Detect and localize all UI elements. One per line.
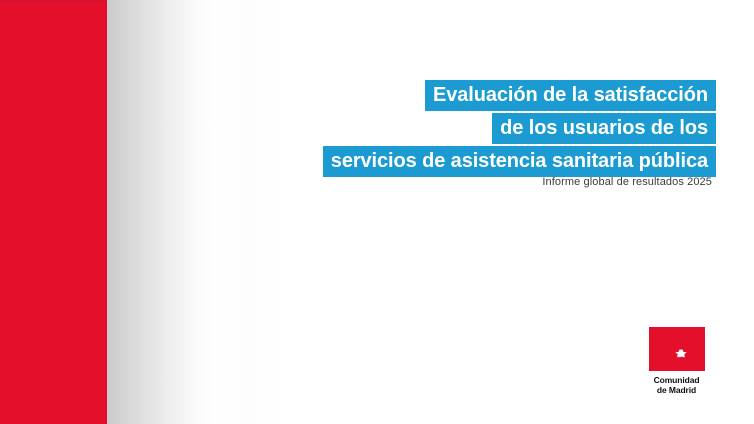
gradient-fade-tail [217, 0, 287, 424]
left-red-band [0, 0, 107, 424]
subtitle: Informe global de resultados 2025 [542, 176, 712, 188]
gradient-fade [107, 0, 217, 424]
title-line-3: servicios de asistencia sanitaria públic… [323, 146, 716, 177]
madrid-flag-icon [649, 327, 705, 371]
title-line-1: Evaluación de la satisfacción [425, 80, 716, 111]
logo-text-line-2: de Madrid [654, 386, 700, 396]
logo-text: Comunidad de Madrid [654, 376, 700, 396]
page-title: Evaluación de la satisfacción de los usu… [323, 80, 716, 177]
title-line-2: de los usuarios de los [492, 113, 716, 144]
red-band-top-accent [0, 0, 107, 2]
title-slide: Evaluación de la satisfacción de los usu… [0, 0, 754, 424]
comunidad-de-madrid-logo: Comunidad de Madrid [637, 327, 716, 396]
